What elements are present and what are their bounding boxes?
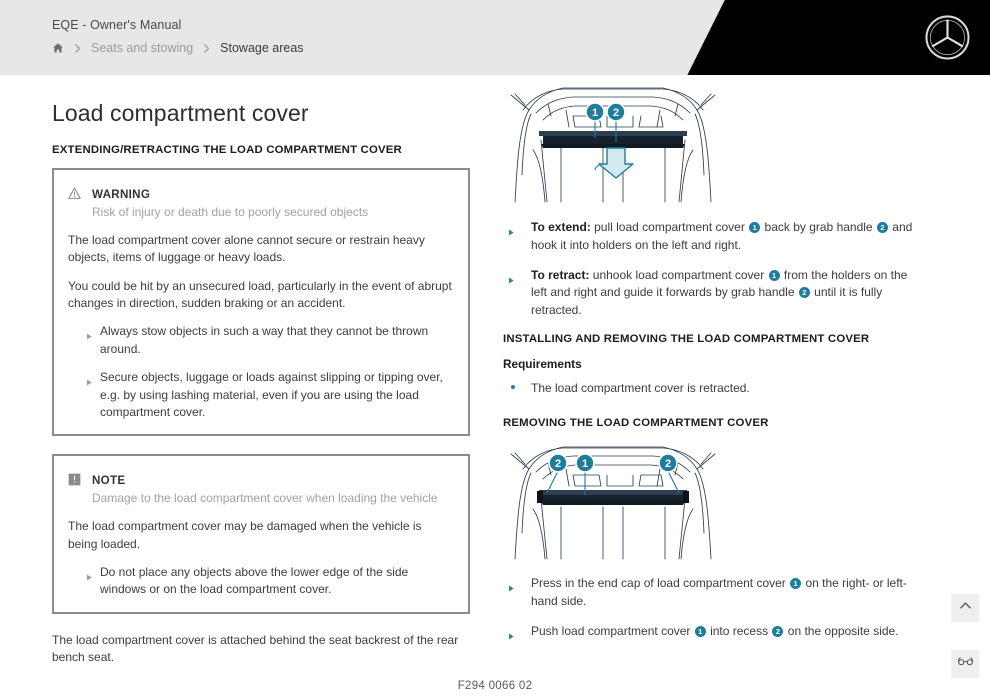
load-compartment-extend-retract-diagram: 1 2 — [503, 80, 723, 205]
note-paragraph: The load compartment cover may be damage… — [68, 518, 452, 553]
closing-paragraph: The load compartment cover is attached b… — [52, 632, 470, 667]
reading-glasses-button[interactable] — [951, 650, 979, 678]
warning-label-group: WARNING Risk of injury or death due to p… — [92, 185, 368, 221]
removal-step-list: Press in the end cap of load compartment… — [503, 575, 918, 645]
triangle-bullet-icon — [503, 575, 531, 611]
warning-paragraph: You could be hit by an unsecured load, p… — [68, 278, 452, 313]
warning-subtitle: Risk of injury or death due to poorly se… — [92, 204, 368, 221]
note-box: NOTE Damage to the load compartment cove… — [52, 454, 470, 613]
warning-action-list: Always stow objects in such a way that t… — [68, 323, 452, 421]
dot-bullet-icon — [503, 380, 531, 397]
triangle-bullet-icon — [503, 267, 531, 320]
triangle-bullet-icon — [68, 323, 100, 358]
chevron-right-icon — [201, 43, 212, 54]
callout-badge: 1 — [749, 222, 760, 233]
breadcrumb-item-stowage-areas[interactable]: Stowage areas — [220, 41, 303, 55]
step-text: Press in the end cap of load compartment… — [531, 575, 918, 611]
header-text-zone: EQE - Owner's Manual Seats and stowing S… — [52, 18, 304, 55]
callout-badge: 2 — [877, 222, 888, 233]
callout-badge: 2 — [772, 626, 783, 637]
section-heading-extending-retracting: EXTENDING/RETRACTING THE LOAD COMPARTMEN… — [52, 144, 470, 156]
list-item: To extend: pull load compartment cover 1… — [503, 219, 918, 255]
mercedes-benz-star-logo — [924, 14, 971, 61]
warning-triangle-icon — [68, 185, 81, 221]
list-item: Press in the end cap of load compartment… — [503, 575, 918, 611]
section-heading-removing: REMOVING THE LOAD COMPARTMENT COVER — [503, 417, 918, 429]
down-arrow-indicator — [599, 148, 633, 178]
note-info-icon — [68, 471, 81, 507]
note-label-group: NOTE Damage to the load compartment cove… — [92, 471, 438, 507]
glasses-icon — [957, 653, 974, 675]
page-title: Load compartment cover — [52, 100, 470, 127]
note-subtitle: Damage to the load compartment cover whe… — [92, 490, 438, 507]
step-text: Push load compartment cover 1 into reces… — [531, 623, 918, 645]
svg-text:2: 2 — [555, 458, 561, 470]
triangle-bullet-icon — [68, 369, 100, 421]
requirements-heading: Requirements — [503, 357, 918, 371]
right-column: 1 2 To extend: pull load compartment cov… — [503, 80, 918, 658]
home-icon[interactable] — [52, 42, 64, 54]
scroll-to-top-button[interactable] — [951, 594, 979, 622]
list-item: Secure objects, luggage or loads against… — [68, 369, 452, 421]
step-text: To retract: unhook load compartment cove… — [531, 267, 918, 320]
list-item-text: Do not place any objects above the lower… — [100, 564, 452, 599]
triangle-bullet-icon — [68, 564, 100, 599]
manual-title: EQE - Owner's Manual — [52, 18, 304, 32]
figure-code: F294 0066 02 — [0, 680, 990, 692]
svg-text:1: 1 — [582, 458, 588, 470]
section-heading-installing-removing: INSTALLING AND REMOVING THE LOAD COMPART… — [503, 333, 918, 345]
list-item: Always stow objects in such a way that t… — [68, 323, 452, 358]
list-item-text: The load compartment cover is retracted. — [531, 380, 750, 397]
note-label: NOTE — [92, 474, 125, 487]
triangle-bullet-icon — [503, 219, 531, 255]
note-action-list: Do not place any objects above the lower… — [68, 564, 452, 599]
list-item: To retract: unhook load compartment cove… — [503, 267, 918, 320]
warning-paragraph: The load compartment cover alone cannot … — [68, 232, 452, 267]
chevron-right-icon — [72, 43, 83, 54]
document-body: Load compartment cover EXTENDING/RETRACT… — [0, 75, 990, 700]
callout-badge: 1 — [790, 578, 801, 589]
callout-badge: 2 — [799, 287, 810, 298]
callout-badge: 1 — [695, 626, 706, 637]
svg-text:2: 2 — [665, 458, 671, 470]
callout-badge: 1 — [769, 270, 780, 281]
breadcrumb-item-seats-and-stowing[interactable]: Seats and stowing — [91, 41, 193, 55]
breadcrumb: Seats and stowing Stowage areas — [52, 41, 304, 55]
step-text: To extend: pull load compartment cover 1… — [531, 219, 918, 255]
list-item-text: Secure objects, luggage or loads against… — [100, 369, 452, 421]
svg-text:2: 2 — [613, 107, 619, 119]
list-item: The load compartment cover is retracted. — [503, 380, 918, 397]
svg-text:1: 1 — [592, 107, 598, 119]
warning-header: WARNING Risk of injury or death due to p… — [68, 185, 452, 221]
list-item-text: Always stow objects in such a way that t… — [100, 323, 452, 358]
chevron-up-icon — [958, 598, 973, 618]
left-column: Load compartment cover EXTENDING/RETRACT… — [52, 100, 470, 666]
list-item: Push load compartment cover 1 into reces… — [503, 623, 918, 645]
warning-label: WARNING — [92, 188, 150, 201]
list-item: Do not place any objects above the lower… — [68, 564, 452, 599]
extend-retract-step-list: To extend: pull load compartment cover 1… — [503, 219, 918, 320]
load-compartment-removal-diagram: 2 1 2 — [503, 441, 723, 561]
requirements-list: The load compartment cover is retracted. — [503, 380, 918, 397]
warning-box: WARNING Risk of injury or death due to p… — [52, 168, 470, 436]
page-header: EQE - Owner's Manual Seats and stowing S… — [0, 0, 990, 75]
note-header: NOTE Damage to the load compartment cove… — [68, 471, 452, 507]
triangle-bullet-icon — [503, 623, 531, 645]
